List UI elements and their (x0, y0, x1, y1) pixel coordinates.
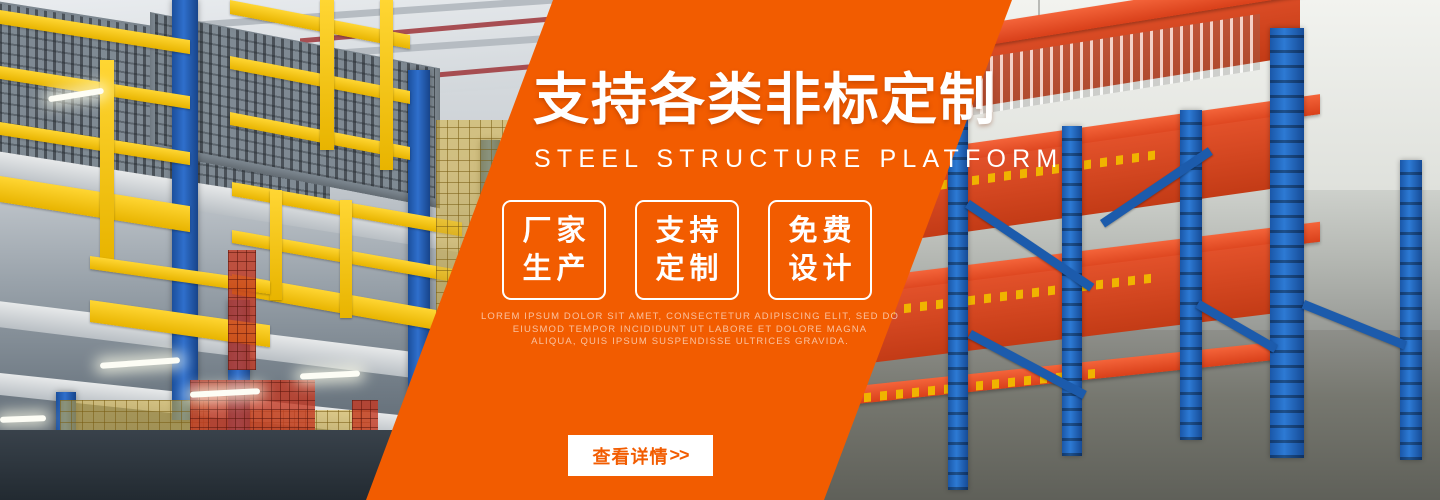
description-line-1: LOREM IPSUM DOLOR SIT AMET, CONSECTETUR … (440, 311, 940, 324)
description-line-3: ALIQUA, QUIS IPSUM SUSPENDISSE ULTRICES … (440, 336, 940, 349)
badge-line-1: 支持 (650, 212, 723, 250)
banner-headline: 支持各类非标定制 (533, 72, 997, 128)
banner-description: LOREM IPSUM DOLOR SIT AMET, CONSECTETUR … (440, 311, 940, 349)
feature-badge-free-design: 免费 设计 (768, 200, 872, 300)
description-line-2: EIUSMOD TEMPOR INCIDIDUNT UT LABORE ET D… (440, 324, 940, 337)
badge-line-1: 免费 (783, 212, 856, 250)
promo-banner: 支持各类非标定制 STEEL STRUCTURE PLATFORM 厂家 生产 … (0, 0, 1440, 500)
feature-badge-group: 厂家 生产 支持 定制 免费 设计 (502, 200, 872, 300)
badge-line-2: 生产 (517, 250, 590, 288)
double-chevron-right-icon: >> (669, 445, 688, 466)
badge-line-2: 定制 (650, 250, 723, 288)
feature-badge-manufacturer: 厂家 生产 (502, 200, 606, 300)
banner-subheadline: STEEL STRUCTURE PLATFORM (534, 145, 1063, 174)
badge-line-2: 设计 (783, 250, 856, 288)
badge-line-1: 厂家 (517, 212, 590, 250)
view-details-button[interactable]: 查看详情 >> (568, 435, 713, 476)
banner-content: 支持各类非标定制 STEEL STRUCTURE PLATFORM 厂家 生产 … (0, 0, 1440, 500)
view-details-label: 查看详情 (592, 443, 668, 469)
feature-badge-customization: 支持 定制 (635, 200, 739, 300)
